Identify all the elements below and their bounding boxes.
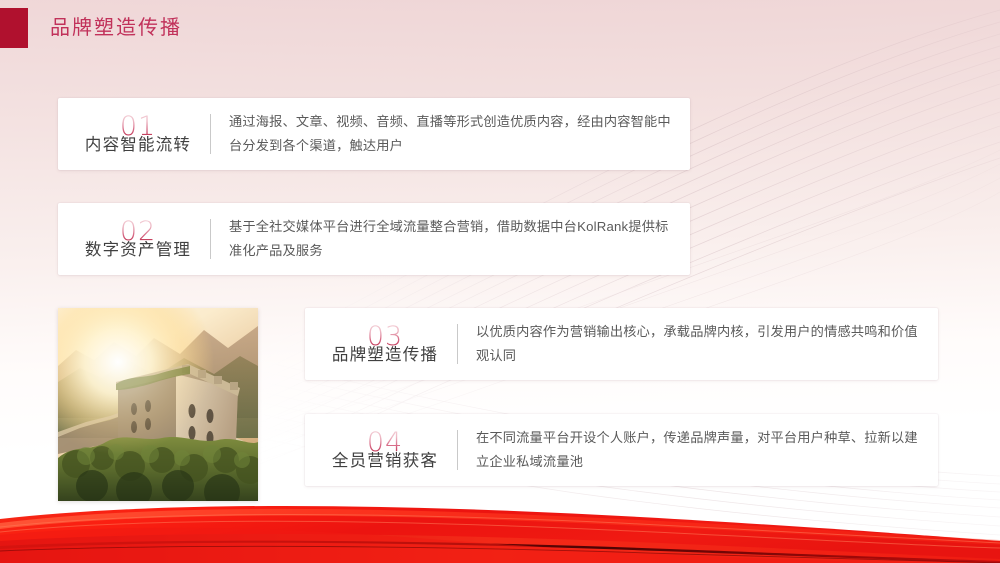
page-title: 品牌塑造传播	[50, 11, 182, 40]
card-body-01: 通过海报、文章、视频、音频、直播等形式创造优质内容，经由内容智能中台分发到各个渠…	[229, 110, 690, 159]
card-body-04: 在不同流量平台开设个人账户，传递品牌声量，对平台用户种草、拉新以建立企业私域流量…	[476, 426, 938, 475]
slide-canvas: 品牌塑造传播 01 内容智能流转 通过海报、文章、视频、音频、直播等形式创造优质…	[0, 0, 1000, 563]
card-left-03: 03 品牌塑造传播	[305, 308, 457, 380]
feature-card-02[interactable]: 02 数字资产管理 基于全社交媒体平台进行全域流量整合营销，借助数据中台KolR…	[58, 203, 690, 275]
card-divider-02	[210, 219, 211, 259]
card-left-04: 04 全员营销获客	[305, 414, 457, 486]
card-body-02: 基于全社交媒体平台进行全域流量整合营销，借助数据中台KolRank提供标准化产品…	[229, 215, 690, 264]
card-title-02: 数字资产管理	[85, 236, 191, 260]
header-accent-block	[0, 8, 28, 48]
feature-card-03[interactable]: 03 品牌塑造传播 以优质内容作为营销输出核心，承载品牌内核，引发用户的情感共鸣…	[305, 308, 938, 380]
great-wall-photo	[58, 308, 258, 501]
great-wall-illustration	[58, 308, 258, 501]
card-divider-03	[457, 324, 458, 364]
card-title-04: 全员营销获客	[332, 447, 438, 471]
feature-card-04[interactable]: 04 全员营销获客 在不同流量平台开设个人账户，传递品牌声量，对平台用户种草、拉…	[305, 414, 938, 486]
card-left-01: 01 内容智能流转	[58, 98, 210, 170]
card-left-02: 02 数字资产管理	[58, 203, 210, 275]
card-divider-04	[457, 430, 458, 470]
card-title-01: 内容智能流转	[85, 131, 191, 155]
card-title-03: 品牌塑造传播	[332, 341, 438, 365]
card-divider-01	[210, 114, 211, 154]
card-body-03: 以优质内容作为营销输出核心，承载品牌内核，引发用户的情感共鸣和价值观认同	[476, 320, 938, 369]
feature-card-01[interactable]: 01 内容智能流转 通过海报、文章、视频、音频、直播等形式创造优质内容，经由内容…	[58, 98, 690, 170]
